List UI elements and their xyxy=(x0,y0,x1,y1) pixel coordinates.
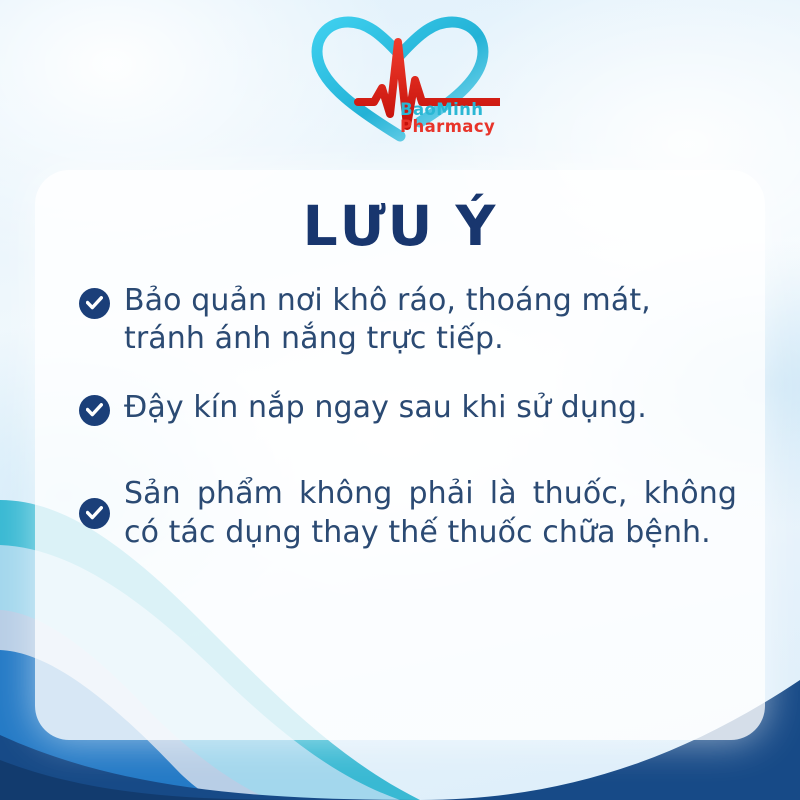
list-item-text: Bảo quản nơi khô ráo, thoáng mát, tránh … xyxy=(124,282,737,359)
list-item: Sản phẩm không phải là thuốc, không có t… xyxy=(79,475,737,552)
brand-logo: BaoMinh Pharmacy xyxy=(0,14,800,150)
list-item-text: Đậy kín nắp ngay sau khi sử dụng. xyxy=(124,389,647,427)
notes-list: Bảo quản nơi khô ráo, thoáng mát, tránh … xyxy=(79,282,737,552)
check-circle-icon xyxy=(79,498,110,529)
list-item: Đậy kín nắp ngay sau khi sử dụng. xyxy=(79,389,737,427)
content-card: LƯU Ý Bảo quản nơi khô ráo, thoáng mát, … xyxy=(35,170,765,740)
check-circle-icon xyxy=(79,288,110,319)
poster-canvas: BaoMinh Pharmacy LƯU Ý Bảo quản nơi khô … xyxy=(0,0,800,800)
check-circle-icon xyxy=(79,395,110,426)
list-item-text: Sản phẩm không phải là thuốc, không có t… xyxy=(124,475,737,552)
list-item: Bảo quản nơi khô ráo, thoáng mát, tránh … xyxy=(79,282,737,359)
logo-sub-name: Pharmacy xyxy=(400,119,495,136)
list-spacer xyxy=(79,457,737,475)
wave-deep-navy-shape xyxy=(0,760,300,800)
page-title: LƯU Ý xyxy=(35,194,765,258)
